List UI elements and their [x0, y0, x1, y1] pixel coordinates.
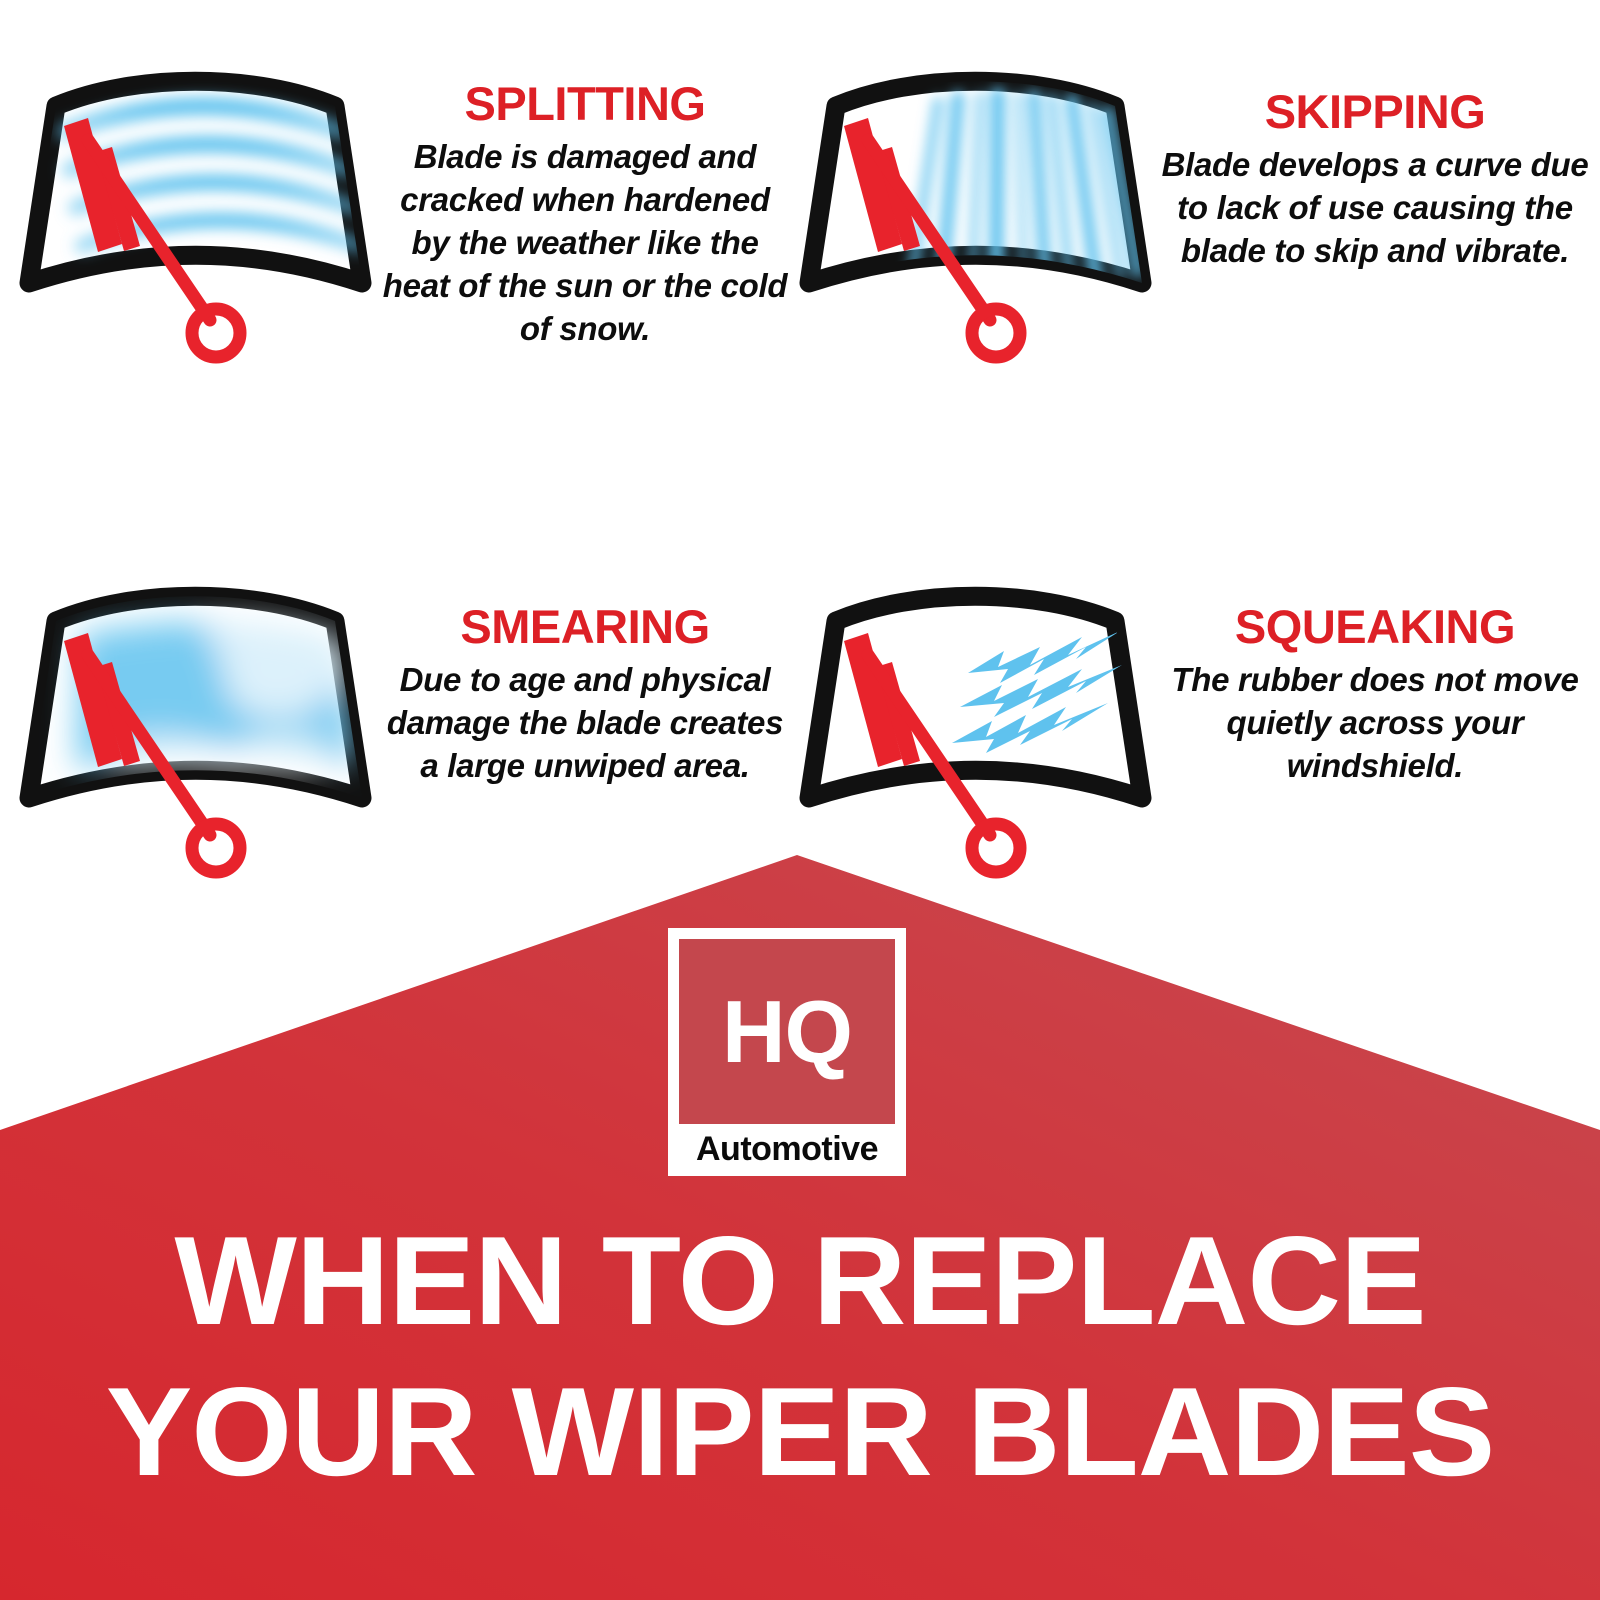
logo-mark-box: HQ [679, 939, 895, 1124]
hq-automotive-logo: HQ Automotive [668, 928, 906, 1176]
logo-mark-text: HQ [679, 988, 895, 1076]
card-body: Blade develops a curve due to lack of us… [1160, 144, 1590, 273]
headline-line-1: WHEN TO REPLACE [0, 1205, 1600, 1356]
card-title: SPLITTING [380, 80, 790, 127]
wiper-windshield-splitting-icon [10, 40, 380, 370]
card-splitting: SPLITTING Blade is damaged and cracked w… [10, 40, 790, 370]
page-title: WHEN TO REPLACE YOUR WIPER BLADES [0, 1205, 1600, 1507]
card-body: The rubber does not move quietly across … [1160, 659, 1590, 788]
logo-subtitle: Automotive [679, 1124, 895, 1176]
card-title: SQUEAKING [1160, 603, 1590, 650]
card-body: Due to age and physical damage the blade… [380, 659, 790, 788]
card-skipping-text: SKIPPING Blade develops a curve due to l… [1160, 40, 1590, 273]
headline-line-2: YOUR WIPER BLADES [0, 1356, 1600, 1507]
card-body: Blade is damaged and cracked when harden… [380, 136, 790, 350]
card-skipping: SKIPPING Blade develops a curve due to l… [790, 40, 1590, 370]
card-squeaking-text: SQUEAKING The rubber does not move quiet… [1160, 555, 1590, 788]
card-smearing-text: SMEARING Due to age and physical damage … [380, 555, 790, 788]
card-title: SKIPPING [1160, 88, 1590, 135]
card-title: SMEARING [380, 603, 790, 650]
wiper-windshield-skipping-icon [790, 40, 1160, 370]
infographic-page: SPLITTING Blade is damaged and cracked w… [0, 0, 1600, 1600]
card-splitting-text: SPLITTING Blade is damaged and cracked w… [380, 40, 790, 350]
